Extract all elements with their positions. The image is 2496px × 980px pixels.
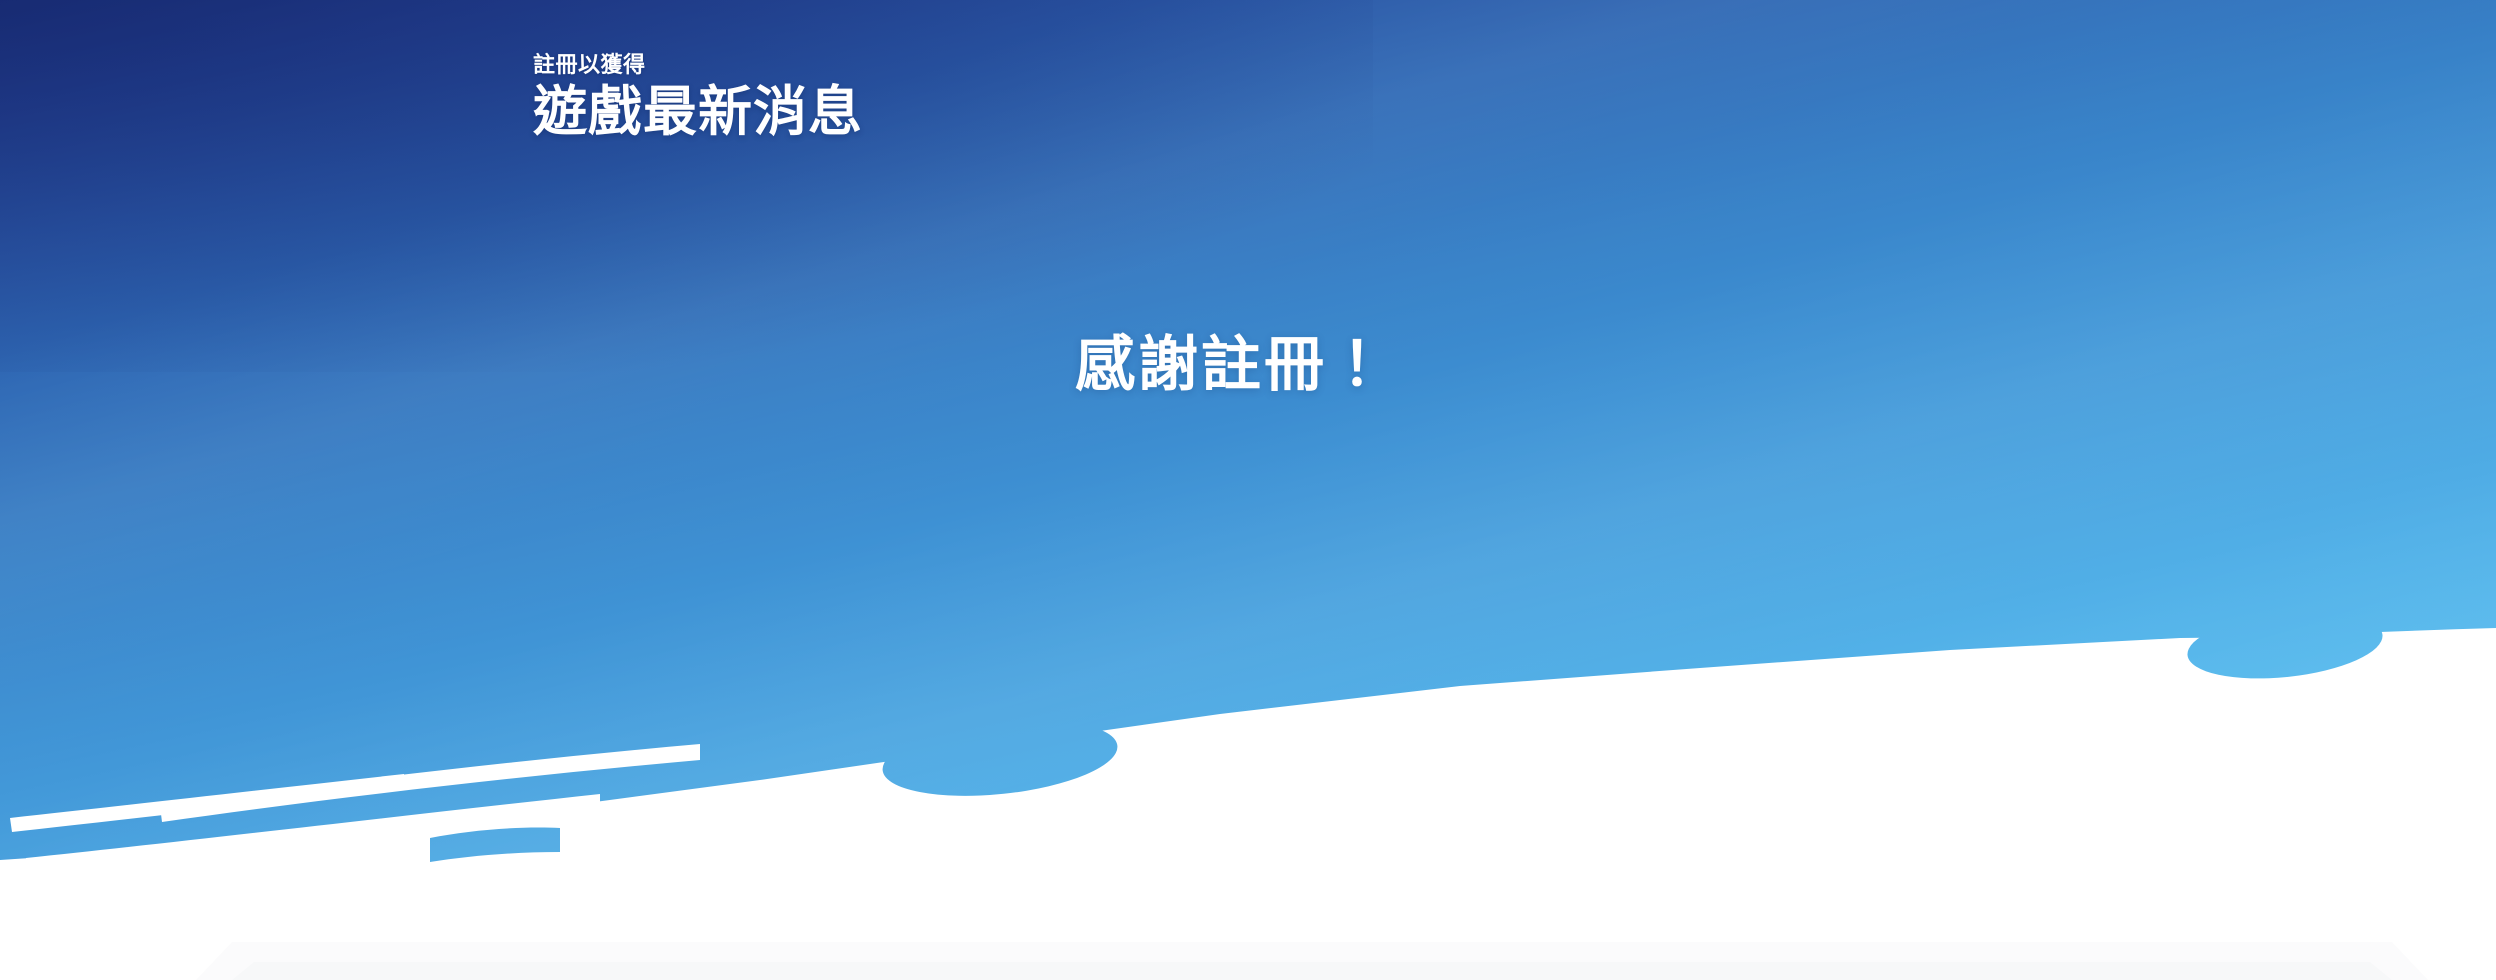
signup-title-text: 遊戲最新消息 (533, 82, 863, 142)
thanks-message-text: 感謝註冊！ (1075, 330, 1390, 399)
signup-header-block: 註冊以獲得 遊戲最新消息 (533, 52, 863, 142)
sky-gradient-background (0, 0, 2496, 980)
thanks-message-container: 感謝註冊！ (0, 330, 2465, 399)
signup-kicker-text: 註冊以獲得 (533, 52, 863, 78)
signup-hero-banner: 註冊以獲得 遊戲最新消息 感謝註冊！ (0, 0, 2496, 980)
